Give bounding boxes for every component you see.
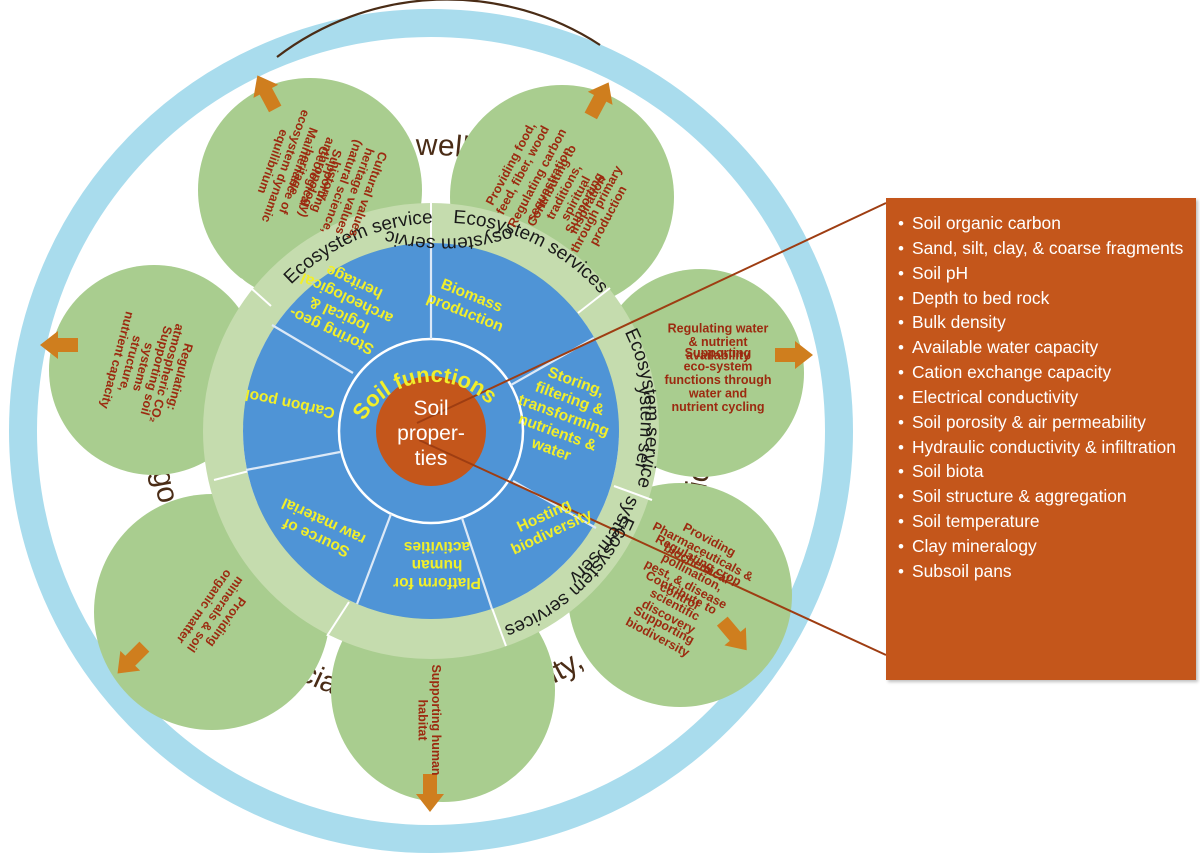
center-line-2: proper- bbox=[397, 422, 465, 445]
soil-property-item: Soil biota bbox=[898, 460, 1186, 484]
soil-property-item: Clay mineralogy bbox=[898, 535, 1186, 559]
soil-property-item: Soil organic carbon bbox=[898, 212, 1186, 236]
soil-property-item: Sand, silt, clay, & coarse fragments bbox=[898, 237, 1186, 261]
soil-property-item: Electrical conductivity bbox=[898, 386, 1186, 410]
center-line-3: ties bbox=[415, 447, 448, 470]
fn-line: Platform for bbox=[393, 574, 481, 591]
figure-canvas: Human well-being - Basic material for go… bbox=[0, 0, 1200, 862]
soil-property-item: Soil temperature bbox=[898, 510, 1186, 534]
soil-property-item: Cation exchange capacity bbox=[898, 361, 1186, 385]
soil-property-item: Hydraulic conductivity & infiltration bbox=[898, 436, 1186, 460]
fn-line: activities bbox=[404, 538, 470, 555]
soil-property-item: Bulk density bbox=[898, 311, 1186, 335]
soil-property-item: Depth to bed rock bbox=[898, 287, 1186, 311]
soil-properties-panel: Soil organic carbonSand, silt, clay, & c… bbox=[886, 198, 1196, 680]
soil-property-item: Soil structure & aggregation bbox=[898, 485, 1186, 509]
soil-properties-list: Soil organic carbonSand, silt, clay, & c… bbox=[886, 198, 1196, 584]
soil-property-item: Available water capacity bbox=[898, 336, 1186, 360]
soil-property-item: Soil porosity & air permeability bbox=[898, 411, 1186, 435]
soil-property-item: Soil pH bbox=[898, 262, 1186, 286]
fn-line: human bbox=[412, 556, 463, 573]
center-line-1: Soil bbox=[413, 397, 448, 420]
soil-property-item: Subsoil pans bbox=[898, 560, 1186, 584]
